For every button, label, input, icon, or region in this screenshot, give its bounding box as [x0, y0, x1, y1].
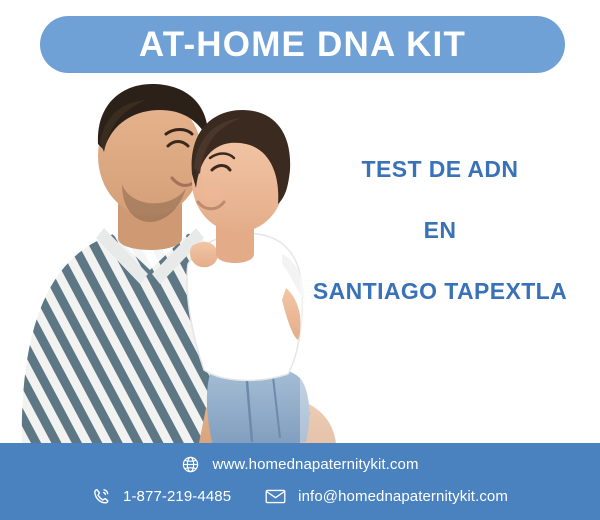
father-and-child-illustration: [0, 78, 340, 458]
globe-icon: [181, 455, 200, 474]
footer-bar: www.homednapaternitykit.com 1-877-219-44…: [0, 443, 600, 520]
footer-phone[interactable]: 1-877-219-4485: [92, 487, 231, 506]
footer-contact-row: 1-877-219-4485 info@homednapaternitykit.…: [0, 487, 600, 506]
footer-email-label: info@homednapaternitykit.com: [298, 489, 508, 504]
footer-website-label: www.homednapaternitykit.com: [212, 457, 418, 472]
footer-website-row: www.homednapaternitykit.com: [0, 455, 600, 474]
footer-phone-label: 1-877-219-4485: [123, 489, 231, 504]
banner-title: AT-HOME DNA KIT: [139, 27, 466, 62]
child-cheek: [202, 188, 222, 200]
poster-canvas: AT-HOME DNA KIT: [0, 0, 600, 520]
headline-line-2: EN: [290, 219, 590, 242]
headline-line-3: SANTIAGO TAPEXTLA: [290, 280, 590, 303]
headline-block: TEST DE ADN EN SANTIAGO TAPEXTLA: [290, 158, 590, 303]
father-and-child-photo: [0, 78, 340, 458]
title-banner: AT-HOME DNA KIT: [40, 16, 565, 73]
footer-website[interactable]: www.homednapaternitykit.com: [181, 455, 418, 474]
headline-line-1: TEST DE ADN: [290, 158, 590, 181]
footer-email[interactable]: info@homednapaternitykit.com: [265, 487, 508, 506]
phone-icon: [92, 487, 111, 506]
envelope-icon: [265, 487, 286, 506]
